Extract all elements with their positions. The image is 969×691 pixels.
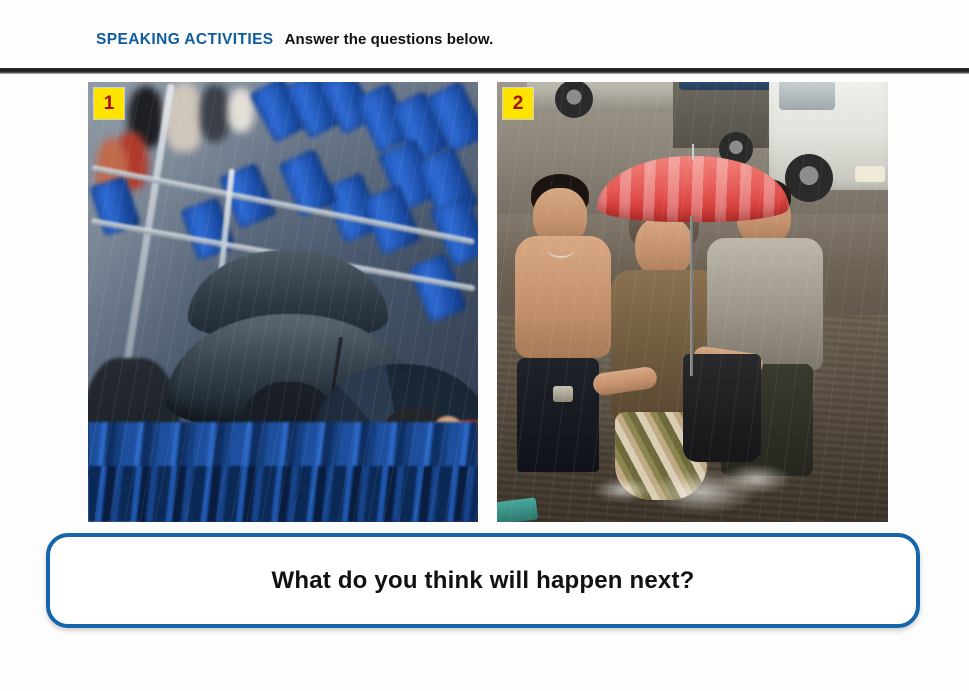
photo-2-flood-rescue[interactable]: 2 [497, 82, 888, 522]
rain-overlay [497, 82, 888, 522]
page-header: SPEAKING ACTIVITIES Answer the questions… [96, 31, 493, 49]
photo-1-number-badge: 1 [94, 88, 124, 119]
question-text: What do you think will happen next? [272, 567, 695, 595]
question-box[interactable]: What do you think will happen next? [46, 533, 920, 628]
photo-2-number-badge: 2 [503, 88, 533, 119]
rain-overlay [88, 82, 478, 522]
photo-1-rainy-stadium[interactable]: 1 [88, 82, 478, 522]
instruction-text: Answer the questions below. [285, 31, 494, 48]
worksheet-page: SPEAKING ACTIVITIES Answer the questions… [0, 0, 969, 691]
photo-row: 1 [0, 82, 969, 522]
section-kicker: SPEAKING ACTIVITIES [96, 31, 274, 49]
header-divider [0, 68, 969, 74]
